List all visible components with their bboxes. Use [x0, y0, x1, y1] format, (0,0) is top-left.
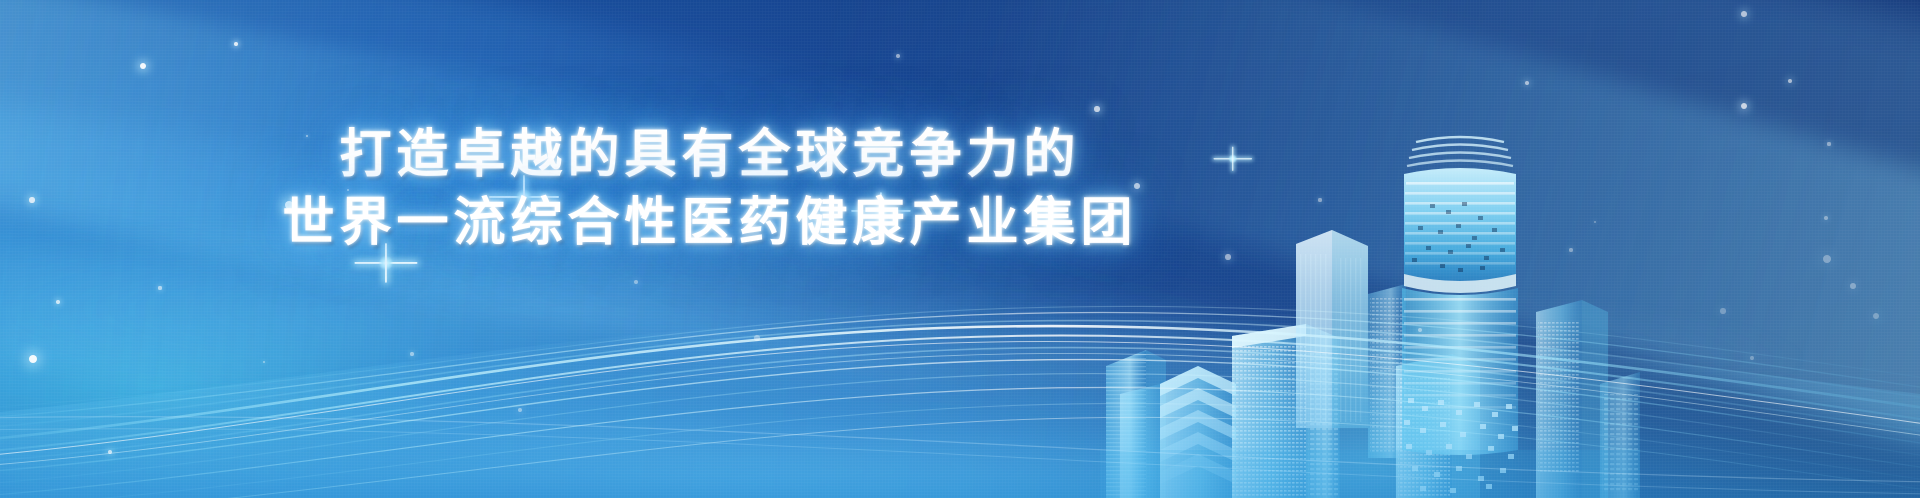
particle-dot [140, 63, 146, 69]
headline-line-2: 世界一流综合性医药健康产业集团 [0, 192, 1420, 254]
particle-dot [1827, 142, 1830, 145]
particle-dot [1741, 11, 1747, 17]
particle-dot [1741, 103, 1747, 109]
particle-dot [896, 54, 900, 58]
headline-line-1: 打造卓越的具有全球竞争力的 [0, 124, 1420, 186]
particle-dot [234, 42, 238, 46]
particle-dot [1094, 106, 1099, 111]
hero-banner: 打造卓越的具有全球竞争力的 世界一流综合性医药健康产业集团 [0, 0, 1920, 498]
particle-dot [1525, 81, 1529, 85]
headline-block: 打造卓越的具有全球竞争力的 世界一流综合性医药健康产业集团 [0, 124, 1420, 254]
particle-dot [1788, 79, 1793, 84]
